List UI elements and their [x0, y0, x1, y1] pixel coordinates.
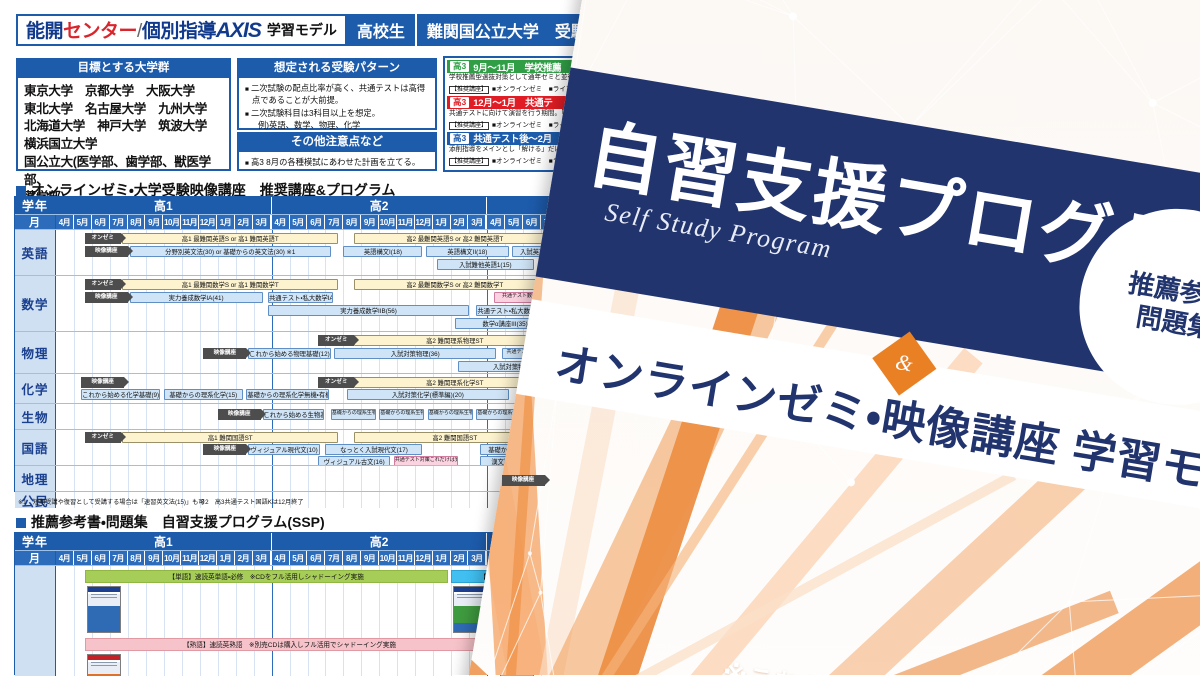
grade-cells: 高1 高2 [56, 533, 559, 550]
subject-timeline: 映像講座これから始める生物基礎(9)基礎からの理系生物(生命現象と物質)(11)… [56, 404, 559, 429]
month-cells: 4月5月6月7月8月9月10月11月12月1月2月3月4月5月6月7月8月9月1… [56, 551, 559, 565]
month-cell: 9月 [145, 551, 163, 565]
header-tag-student: 高校生 [347, 14, 415, 46]
ssp-band: 【 [498, 638, 559, 651]
month-cell: 11月 [181, 215, 199, 229]
subject-row: 英語 オンゼミ高1 最難関英語S or 高1 難関英語T映像講座分野別英文法(3… [15, 230, 559, 276]
book-footer-band [454, 623, 486, 634]
month-cell: 3月 [253, 551, 272, 565]
grade-cells: 高1 高2 [56, 197, 559, 214]
course-bar: 高1 最難関数学S or 高1 難関数学T [122, 279, 338, 290]
book-cover-thumbnail [453, 586, 487, 633]
month-cell: 1月 [217, 215, 235, 229]
month-cell: 11月 [397, 551, 415, 565]
month-cell: 10月 [163, 215, 181, 229]
logo-kobetsu: 個別指導 [142, 21, 216, 42]
pattern-item: 二次試験の配点比率が高く、共通テストは高得点であることが大前提。 [245, 83, 429, 106]
course-type-tag: 映像講座 [81, 377, 124, 388]
subject-timeline: 映像講座 [56, 466, 559, 491]
schedule-card-header: 高3 12月～1月 共通テ [447, 96, 614, 109]
footnote-1: ※1 短期受講や復習として受講する場合は「速習英文法(15)」も可 [18, 497, 205, 506]
panel-target-universities: 目標とする大学群 東京大学 京都大学 大阪大学 東北大学 名古屋大学 九州大学 … [16, 58, 231, 171]
month-cell: 2月 [235, 551, 253, 565]
schedule-courses: 【推奨講座】■オンラインゼミ ■ラ [447, 155, 614, 166]
book-header-band [454, 587, 486, 592]
course-bar: 共通テスト・私大数学IA(15) [268, 292, 333, 303]
brand-logo: 能開センター/個別指導AXIS 学習モデル [16, 14, 347, 46]
month-cell: 1月 [433, 215, 451, 229]
month-cell: 3月 [468, 215, 487, 229]
book-art-area [88, 606, 120, 623]
month-cell: 5月 [505, 215, 523, 229]
month-cell: 6月 [307, 215, 325, 229]
book-title-area [454, 594, 486, 606]
month-cell: 7月 [325, 215, 343, 229]
course-type-tag: 映像講座 [218, 409, 261, 420]
pattern-item-text: 二次試験科目は3科目以上を想定。 [251, 108, 380, 118]
grade-cell-1: 高1 [56, 533, 272, 550]
course-type-tag: オンゼミ [318, 335, 354, 346]
schedule-card-autumn: 高3 9月～11月 学校推薦 学校推薦型選抜対策として通年ゼミと並行 【推奨講座… [447, 60, 614, 94]
subject-timeline: オンゼミ高2 難関理系化学ST映像講座これから始める化学基礎(9)基礎からの理系… [56, 374, 559, 403]
month-cell: 4月 [272, 551, 290, 565]
month-cell: 9月 [361, 215, 379, 229]
row-label-subject: 生物 [15, 404, 56, 429]
logo-subtitle: 学習モデル [267, 20, 337, 40]
course-bar: 共通テストP現代文(12) [552, 444, 559, 455]
course-bar: これから始める生物基礎(9) [263, 409, 324, 420]
book-title-area [88, 594, 120, 606]
month-cell: 3月 [468, 551, 487, 565]
schedule-course-label: 【推奨講座】 [449, 158, 489, 166]
row-label-subject: 地理 [15, 466, 56, 491]
month-cell: 5月 [505, 551, 523, 565]
panel-schedule-cards: 高3 9月～11月 学校推薦 学校推薦型選抜対策として通年ゼミと並行 【推奨講座… [443, 56, 618, 172]
subject-timeline: オンゼミ高1 最難関英語S or 高1 難関英語T映像講座分野別英文法(30) … [56, 230, 559, 275]
month-cell: 8月 [128, 215, 146, 229]
logo-axis: AXIS [216, 19, 261, 42]
course-bar: 基礎からの理系化学(15) [164, 389, 243, 400]
schedule-card-final: 高3 共通テスト後～2月 添削指導をメインとし「解ける」だけでは 【推奨講座】■… [447, 132, 614, 166]
course-bar: 基礎からの理系生物(生命現象と物質)(11) [331, 409, 376, 420]
course-bar: 基礎からの理系化学無機・有機(20) [246, 389, 329, 400]
course-type-tag: 映像講座 [203, 348, 246, 359]
schedule-card-winter: 高3 12月～1月 共通テ 共通テストに向けて演習を行う期間。「解 【推奨講座】… [447, 96, 614, 130]
schedule-card-header: 高3 9月～11月 学校推薦 [447, 60, 614, 73]
row-label-grade: 学年 [15, 533, 56, 550]
course-type-tag: オンゼミ [85, 233, 121, 244]
course-bar: 基礎からの理系生物(生態と環境)(9) [476, 409, 521, 420]
other-note-item: 高3 8月の各種模試にあわせた計画を立てる。 [245, 157, 429, 169]
month-cell: 12月 [415, 551, 433, 565]
course-timetable: 学年 高1 高2 月 4月5月6月7月8月9月10月11月12月1月2月3月4月… [14, 196, 560, 492]
month-cell: 12月 [415, 215, 433, 229]
book-cover-thumbnail [500, 654, 534, 676]
pattern-example: 例)英語、数学、物理、化学 [252, 120, 429, 131]
schedule-range: 共通テスト後～2月 [473, 131, 552, 145]
subject-timeline: オンゼミ高2 難関理系物理ST映像講座これから始める物理基礎(12)入試対策物理… [56, 332, 559, 373]
course-bar: 高2 最難関数学S or 高2 難関数学T [354, 279, 555, 290]
book-cover-thumbnail [87, 654, 121, 676]
course-bar: 英語構文II(18) [426, 246, 509, 257]
course-bar: 共通テスト・私大数学IIB(15) [476, 305, 555, 316]
book-title-area [501, 662, 533, 674]
course-type-tag: 映像講座 [203, 444, 246, 455]
course-bar: 基礎からの理系生物(生殖と発生)(9) [379, 409, 424, 420]
schedule-course-label: 【推奨講座】 [449, 122, 489, 130]
square-bullet-icon [16, 518, 26, 528]
study-model-sheet: 能開センター/個別指導AXIS 学習モデル 高校生 難関国公立大学 受験(理 目… [0, 0, 1200, 675]
schedule-desc: 共通テストに向けて演習を行う期間。「解 [447, 109, 614, 119]
schedule-course-label: 【推奨講座】 [449, 86, 489, 94]
course-bar: 高1 難関国語ST [122, 432, 338, 443]
gridlines [56, 466, 559, 491]
section-heading-ssp: 推薦参考書・問題集 自習支援プログラム(SSP) [16, 512, 325, 532]
row-label-ssp [15, 566, 56, 676]
course-bar: 実力養成数学IA(41) [130, 292, 263, 303]
schedule-grade-badge: 高3 [450, 61, 469, 72]
course-bar: 分野別英文法(30) or 基礎からの英文法(30) ※1 [130, 246, 331, 257]
month-cell: 4月 [56, 551, 74, 565]
sheet-header: 能開センター/個別指導AXIS 学習モデル 高校生 難関国公立大学 受験(理 [16, 14, 618, 46]
month-cell: 2月 [235, 215, 253, 229]
ssp-band: 【熟語】速読英熟語 ※別売CDは購入しフル活用でシャドーイング実施 [85, 638, 495, 651]
month-cell: 9月 [361, 551, 379, 565]
row-label-grade: 学年 [15, 197, 56, 214]
subject-timeline: オンゼミ高1 最難関数学S or 高1 難関数学T映像講座実力養成数学IA(41… [56, 276, 559, 331]
course-bar: 入試対策化学(標準編)(20) [347, 389, 509, 400]
month-cell: 4月 [272, 215, 290, 229]
course-bar: ヴィジュアル古文(16) [318, 456, 390, 465]
book-header-band [88, 587, 120, 592]
month-cell: 7月 [110, 215, 128, 229]
square-bullet-icon [16, 186, 26, 196]
course-type-tag: 映像講座 [85, 246, 128, 257]
ssp-timetable: 学年 高1 高2 月 4月5月6月7月8月9月10月11月12月1月2月3月4月… [14, 532, 560, 675]
month-cell: 6月 [92, 551, 110, 565]
schedule-courses: 【推奨講座】■オンラインゼミ ■ライブ [447, 83, 614, 94]
course-type-tag: 映像講座 [85, 292, 128, 303]
grade-cell-1: 高1 [56, 197, 272, 214]
month-cell: 7月 [541, 215, 559, 229]
book-title-area [88, 662, 120, 674]
month-cell: 12月 [199, 551, 217, 565]
month-cell: 10月 [379, 215, 397, 229]
course-bar: 実力養成数学IIB(56) [268, 305, 469, 316]
panel-title-other-notes: その他注意点など [239, 134, 435, 152]
course-bar: 高1 最難関英語S or 高1 難関英語T [122, 233, 338, 244]
course-bar: 入試難他英語1(15) [437, 259, 534, 270]
month-cell: 7月 [110, 551, 128, 565]
book-header-band [501, 655, 533, 660]
month-cell: 1月 [433, 551, 451, 565]
month-cell: 3月 [253, 215, 272, 229]
month-cells: 4月5月6月7月8月9月10月11月12月1月2月3月4月5月6月7月8月9月1… [56, 215, 559, 229]
course-type-tag: オンゼミ [318, 377, 354, 388]
book-header-band [88, 655, 120, 660]
subject-row: 数学 オンゼミ高1 最難関数学S or 高1 難関数学T映像講座実力養成数学IA… [15, 276, 559, 332]
schedule-course-list: ■オンラインゼミ ■ライ [492, 122, 566, 129]
subject-row: 物理 オンゼミ高2 難関理系物理ST映像講座これから始める物理基礎(12)入試対… [15, 332, 559, 374]
course-bar: 共通テスト対策これだけは覚えたい [394, 456, 459, 465]
course-bar: 数学α講座III(35) [455, 318, 556, 329]
row-label-month: 月 [15, 215, 56, 229]
book-art-area [454, 606, 486, 623]
month-cell: 11月 [181, 551, 199, 565]
subject-row: 地理 映像講座 [15, 466, 559, 492]
course-bar: 入試対策物理(36) [334, 348, 496, 359]
course-bar: 高2 難関理系物理ST [354, 335, 555, 346]
univ-line: 東京大学 京都大学 大阪大学 [24, 83, 223, 101]
month-cell: 7月 [325, 551, 343, 565]
month-cell: 7月 [541, 551, 559, 565]
month-cell: 6月 [307, 551, 325, 565]
course-bar: 漢文読解対策(5) [480, 456, 548, 465]
course-bar: これから始める物理基礎(12) [248, 348, 331, 359]
schedule-range: 12月～1月 共通テ [473, 95, 552, 109]
panel-body-other-notes: 高3 8月の各種模試にあわせた計画を立てる。 [239, 152, 435, 176]
month-cell: 4月 [56, 215, 74, 229]
logo-center: センター [63, 21, 137, 42]
month-cell: 8月 [343, 551, 361, 565]
month-cell: 9月 [145, 215, 163, 229]
univ-line: 北海道大学 神戸大学 筑波大学 [24, 118, 223, 136]
univ-line: 横浜国立大学 [24, 136, 223, 154]
month-cell: 5月 [74, 551, 92, 565]
month-cell: 5月 [74, 215, 92, 229]
ssp-timeline: 【単語】速読英単語・必修 ※CDをフル活用しシャドーイング実施【単語】速読英単語… [56, 566, 559, 676]
table-header-month-row: 月 4月5月6月7月8月9月10月11月12月1月2月3月4月5月6月7月8月9… [15, 215, 559, 230]
row-label-subject: 国語 [15, 430, 56, 465]
schedule-desc: 学校推薦型選抜対策として通年ゼミと並行 [447, 73, 614, 83]
course-bar: 入試英文読解(15) [512, 246, 559, 257]
subject-row: 化学 オンゼミ高2 難関理系化学ST映像講座これから始める化学基礎(9)基礎から… [15, 374, 559, 404]
month-cell: 8月 [343, 215, 361, 229]
course-bar: 入試対策物 [458, 361, 559, 372]
header-divider [415, 14, 417, 46]
course-bar: 共通テスト物理(17) [502, 348, 556, 359]
univ-line: 東北大学 名古屋大学 九州大学 [24, 101, 223, 119]
course-bar: 共通テスト数学IA(8) [494, 292, 555, 303]
book-footer-band [88, 623, 120, 634]
section-heading-text: 推薦参考書・問題集 自習支援プログラム(SSP) [31, 514, 325, 530]
month-cell: 6月 [523, 215, 541, 229]
month-cell: 6月 [92, 215, 110, 229]
course-bar: なっとく入試現代文(17) [325, 444, 422, 455]
month-cell: 11月 [397, 215, 415, 229]
subject-timeline: オンゼミ高1 難関国語ST高2 難関国語ST映像講座ヴィジュアル現代文(10)な… [56, 430, 559, 465]
course-type-tag: オンゼミ [85, 279, 121, 290]
course-bar: 基礎からの理系生物(生物の進化と系統)(5) [525, 409, 557, 420]
course-bar: 英語構文I(18) [343, 246, 422, 257]
course-bar: 基礎からの漢文(5) [480, 444, 548, 455]
ssp-band: 【単語】速読英単語・必修 ※CDをフル活用しシャドーイング実施 [85, 570, 448, 583]
month-cell: 8月 [128, 551, 146, 565]
course-bar: 高2 最難関英語S or 高2 難関英語T [354, 233, 555, 244]
month-cell: 5月 [290, 551, 308, 565]
month-cell: 10月 [379, 551, 397, 565]
header-tag-target: 難関国公立大学 受験(理 [417, 14, 618, 46]
course-bar: これから始める化学基礎(9) [81, 389, 160, 400]
course-type-tag: 映像講座 [502, 475, 545, 486]
subject-row: 生物 映像講座これから始める生物基礎(9)基礎からの理系生物(生命現象と物質)(… [15, 404, 559, 430]
month-cell: 2月 [451, 551, 469, 565]
row-label-month: 月 [15, 551, 56, 565]
pattern-item: 二次試験科目は3科目以上を想定。 例)英語、数学、物理、化学 [245, 108, 429, 131]
logo-noukai: 能開 [26, 21, 63, 42]
schedule-grade-badge: 高3 [450, 133, 469, 144]
course-type-tag: オンゼミ [85, 432, 121, 443]
month-cell: 12月 [199, 215, 217, 229]
grade-cell-3 [487, 197, 559, 214]
schedule-range: 9月～11月 学校推薦 [473, 60, 561, 74]
subject-row: 国語 オンゼミ高1 難関国語ST高2 難関国語ST映像講座ヴィジュアル現代文(1… [15, 430, 559, 466]
row-label-subject: 数学 [15, 276, 56, 331]
course-bar: 高2 難関国語ST [354, 432, 555, 443]
schedule-course-list: ■オンラインゼミ ■ライブ [492, 86, 573, 93]
footnote-2: ※2 高3共通テスト国語Kは12月終了 [200, 497, 304, 506]
month-cell: 1月 [217, 551, 235, 565]
schedule-courses: 【推奨講座】■オンラインゼミ ■ライ [447, 119, 614, 130]
month-cell: 5月 [290, 215, 308, 229]
row-label-subject: 化学 [15, 374, 56, 403]
ssp-header-grade-row: 学年 高1 高2 [15, 533, 559, 551]
schedule-grade-badge: 高3 [450, 97, 469, 108]
month-cell: 10月 [163, 551, 181, 565]
course-bar: ヴィジュアル現代文(10) [248, 444, 320, 455]
panel-other-notes: その他注意点など 高3 8月の各種模試にあわせた計画を立てる。 [237, 132, 437, 171]
month-cell: 2月 [451, 215, 469, 229]
ssp-header-month-row: 月 4月5月6月7月8月9月10月11月12月1月2月3月4月5月6月7月8月9… [15, 551, 559, 566]
month-cell: 4月 [487, 215, 505, 229]
row-label-subject: 英語 [15, 230, 56, 275]
month-cell: 4月 [487, 551, 505, 565]
grade-cell-2: 高2 [272, 197, 488, 214]
row-label-subject: 物理 [15, 332, 56, 373]
schedule-card-header: 高3 共通テスト後～2月 [447, 132, 614, 145]
panel-title-exam-pattern: 想定される受験パターン [239, 60, 435, 78]
ssp-content-row: 【単語】速読英単語・必修 ※CDをフル活用しシャドーイング実施【単語】速読英単語… [15, 566, 559, 676]
course-bar: 高2 難関理系化学ST [354, 377, 555, 388]
table-header-grade-row: 学年 高1 高2 [15, 197, 559, 215]
schedule-desc: 添削指導をメインとし「解ける」だけでは [447, 145, 614, 155]
grade-cell-3 [487, 533, 559, 550]
course-bar: 基礎からの理系生物(生物の環境応答)(8) [428, 409, 473, 420]
month-cell: 6月 [523, 551, 541, 565]
ssp-band: 【単語】速読英単語・上級 ※CDをフル活 [451, 570, 559, 583]
panel-exam-pattern: 想定される受験パターン 二次試験の配点比率が高く、共通テストは高得点であることが… [237, 58, 437, 130]
panel-title-universities: 目標とする大学群 [18, 60, 229, 78]
grade-cell-2: 高2 [272, 533, 488, 550]
schedule-course-list: ■オンラインゼミ ■ラ [492, 158, 559, 165]
panel-body-exam-pattern: 二次試験の配点比率が高く、共通テストは高得点であることが大前提。 二次試験科目は… [239, 78, 435, 138]
book-cover-thumbnail [87, 586, 121, 633]
